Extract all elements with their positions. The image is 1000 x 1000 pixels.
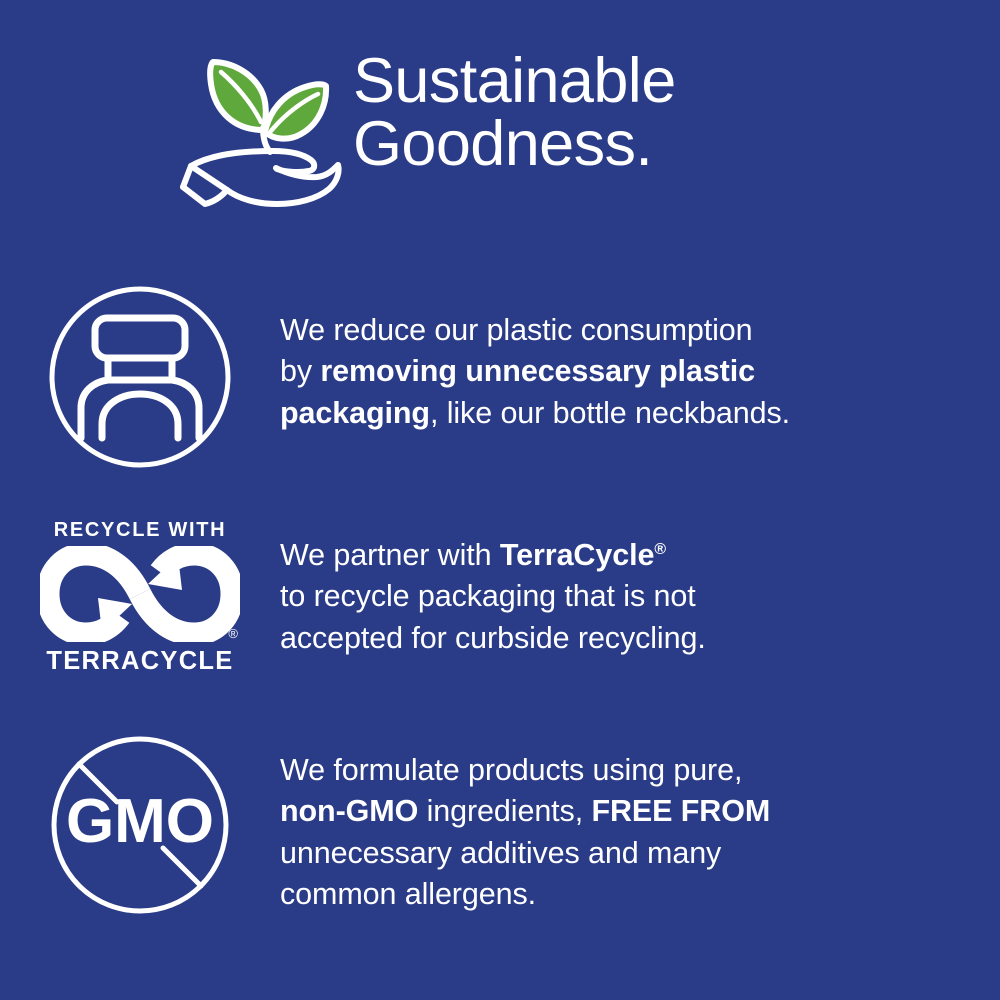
text-line: We reduce our plastic consumption xyxy=(280,310,972,351)
text-line: We partner with TerraCycle® xyxy=(280,535,972,576)
header: Sustainable Goodness. xyxy=(0,48,1000,223)
terracycle-logo-top-text: RECYCLE WITH xyxy=(54,520,227,540)
text-line: by removing unnecessary plastic xyxy=(280,351,972,392)
feature-text-plastic-reduction: We reduce our plastic consumptionby remo… xyxy=(280,282,1000,434)
feature-icon-container: GMO xyxy=(0,730,280,920)
page-title-line-1: Sustainable xyxy=(353,50,823,113)
text-line: packaging, like our bottle neckbands. xyxy=(280,393,972,434)
feature-text-non-gmo: We formulate products using pure,non-GMO… xyxy=(280,730,1000,916)
sustainable-goodness-infographic: Sustainable Goodness. We reduce our plas… xyxy=(0,0,1000,1000)
page-title: Sustainable Goodness. xyxy=(353,50,823,176)
terracycle-logo: RECYCLE WITH ® TERRACYCLE xyxy=(35,520,245,675)
feature-row-terracycle: RECYCLE WITH ® TERRACYCLE xyxy=(0,516,1000,701)
feature-text-terracycle: We partner with TerraCycle®to recycle pa… xyxy=(280,516,1000,659)
text-line: We formulate products using pure, xyxy=(280,750,972,791)
text-line: unnecessary additives and many xyxy=(280,833,972,874)
no-gmo-label: GMO xyxy=(66,787,214,856)
bottle-neckband-circle-icon xyxy=(45,282,235,472)
text-line: accepted for curbside recycling. xyxy=(280,618,972,659)
no-gmo-circle-icon: GMO xyxy=(45,730,235,920)
feature-row-plastic-reduction: We reduce our plastic consumptionby remo… xyxy=(0,282,1000,492)
feature-icon-container: RECYCLE WITH ® TERRACYCLE xyxy=(0,516,280,675)
registered-mark: ® xyxy=(228,627,238,640)
feature-row-non-gmo: GMO We formulate products using pure,non… xyxy=(0,730,1000,940)
terracycle-logo-bottom-text: TERRACYCLE xyxy=(46,649,233,675)
text-line: common allergens. xyxy=(280,874,972,915)
hand-holding-sprout-icon xyxy=(177,56,345,208)
text-line: non-GMO ingredients, FREE FROM xyxy=(280,791,972,832)
page-title-line-2: Goodness. xyxy=(353,113,823,176)
infinity-recycle-arrows-icon: ® xyxy=(40,546,240,642)
feature-icon-container xyxy=(0,282,280,472)
text-line: to recycle packaging that is not xyxy=(280,576,972,617)
